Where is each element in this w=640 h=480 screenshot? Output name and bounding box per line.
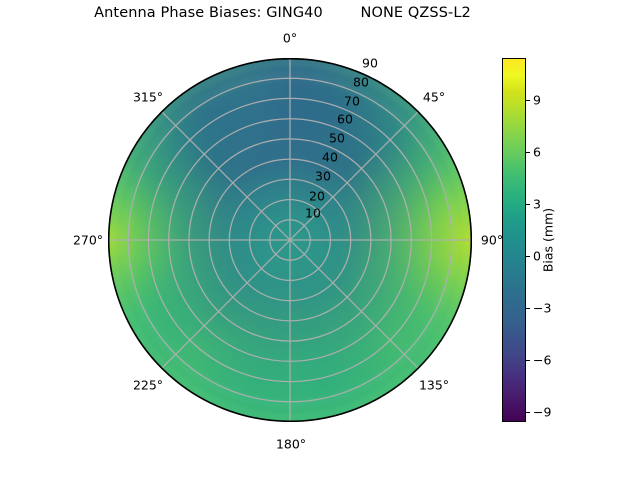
colorbar bbox=[502, 58, 526, 422]
r-tick-50: 50 bbox=[329, 131, 345, 146]
polar-plot-axes bbox=[108, 58, 472, 422]
theta-tick-270: 270° bbox=[73, 233, 103, 248]
colorbar-tick-0 bbox=[526, 256, 530, 257]
r-tick-30: 30 bbox=[315, 169, 331, 184]
r-tick-20: 20 bbox=[309, 189, 325, 204]
colorbar-ticklabel-m9: −9 bbox=[533, 404, 551, 419]
r-tick-70: 70 bbox=[344, 94, 360, 109]
matplotlib-figure: Antenna Phase Biases: GING40 NONE QZSS-L… bbox=[0, 0, 640, 480]
r-tick-40: 40 bbox=[322, 150, 338, 165]
r-tick-60: 60 bbox=[337, 112, 353, 127]
colorbar-tick-m9 bbox=[526, 412, 530, 413]
r-tick-80: 80 bbox=[353, 75, 369, 90]
colorbar-ticklabel-m6: −6 bbox=[533, 352, 551, 367]
theta-tick-315: 315° bbox=[133, 90, 163, 105]
colorbar-tick-m3 bbox=[526, 308, 530, 309]
r-tick-90: 90 bbox=[362, 56, 378, 71]
polar-grid bbox=[108, 58, 472, 422]
colorbar-gradient bbox=[502, 58, 526, 422]
colorbar-axis-label: Bias (mm) bbox=[541, 208, 556, 272]
polar-contour-svg bbox=[108, 58, 472, 422]
colorbar-tick-3 bbox=[526, 204, 530, 205]
colorbar-ticklabel-m3: −3 bbox=[533, 300, 551, 315]
theta-tick-45: 45° bbox=[423, 90, 445, 105]
colorbar-tick-m6 bbox=[526, 360, 530, 361]
colorbar-ticklabel-9: 9 bbox=[533, 92, 541, 107]
theta-tick-90: 90° bbox=[481, 233, 503, 248]
theta-tick-180: 180° bbox=[276, 437, 306, 452]
colorbar-tick-9 bbox=[526, 100, 530, 101]
r-tick-10: 10 bbox=[305, 206, 321, 221]
theta-tick-225: 225° bbox=[133, 378, 163, 393]
theta-tick-0: 0° bbox=[283, 31, 297, 46]
colorbar-ticklabel-6: 6 bbox=[533, 144, 541, 159]
page-title: Antenna Phase Biases: GING40 NONE QZSS-L… bbox=[0, 5, 565, 21]
theta-tick-135: 135° bbox=[419, 378, 449, 393]
colorbar-tick-6 bbox=[526, 152, 530, 153]
